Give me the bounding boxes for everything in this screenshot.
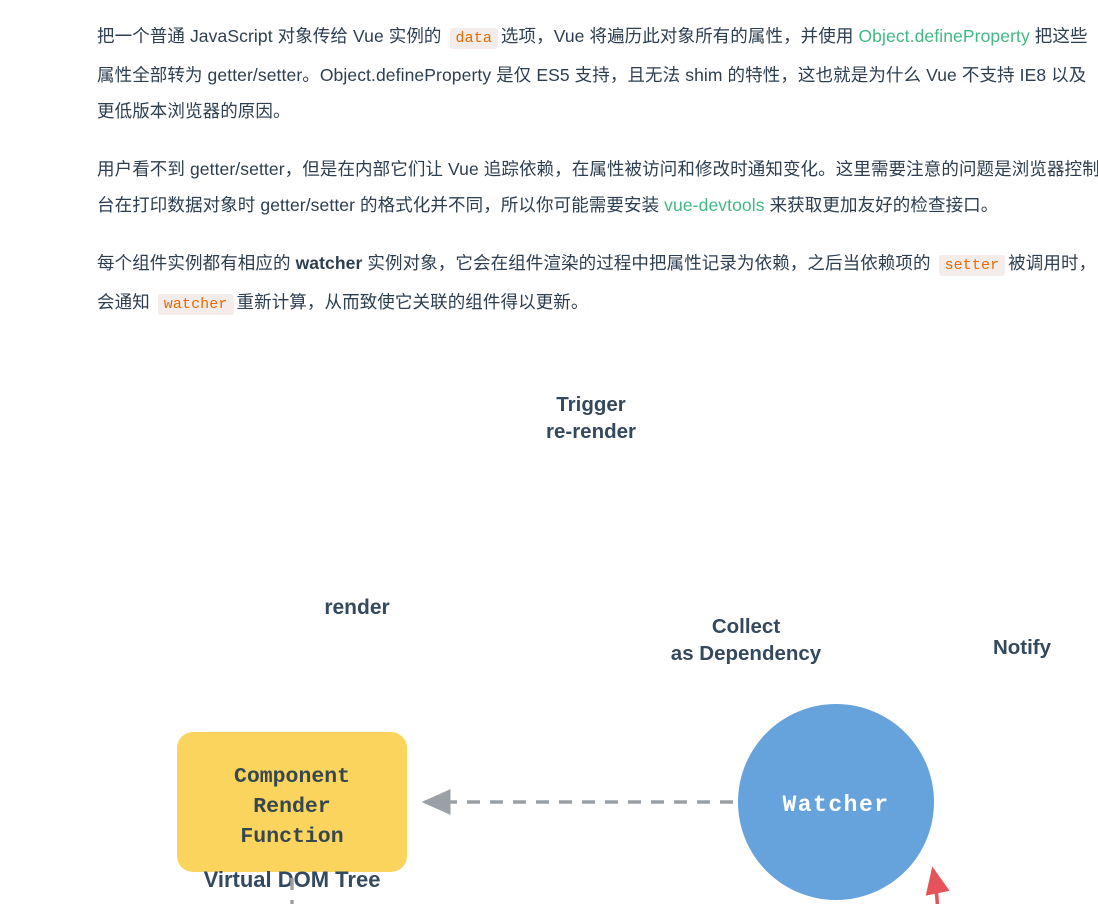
p1-text-2: 选项，Vue 将遍历此对象所有的属性，并使用 xyxy=(501,26,854,46)
page-root: 把一个普通 JavaScript 对象传给 Vue 实例的 data选项，Vue… xyxy=(0,0,1098,904)
node-component-render-function[interactable]: Component Render Function xyxy=(177,732,407,872)
edge-label-trigger-line-2: re-render xyxy=(546,420,636,443)
p2-text-2: 来获取更加友好的检查接口。 xyxy=(770,195,999,215)
link-object-defineproperty[interactable]: Object.defineProperty xyxy=(858,26,1029,46)
paragraph-2: 用户看不到 getter/setter，但是在内部它们让 Vue 追踪依赖，在属… xyxy=(97,151,1098,223)
p1-text-1: 把一个普通 JavaScript 对象传给 Vue 实例的 xyxy=(97,26,442,46)
p3-text-2: 实例对象，它会在组件渲染的过程中把属性记录为依赖，之后当依赖项的 xyxy=(367,253,930,273)
paragraph-3: 每个组件实例都有相应的 watcher 实例对象，它会在组件渲染的过程中把属性记… xyxy=(97,245,1098,323)
keyword-watcher: watcher xyxy=(296,253,363,273)
edge-label-collect-line-2: as Dependency xyxy=(671,642,822,665)
p3-text-4: 重新计算，从而致使它关联的组件得以更新。 xyxy=(237,292,589,312)
paragraph-1: 把一个普通 JavaScript 对象传给 Vue 实例的 data选项，Vue… xyxy=(97,18,1098,129)
code-data: data xyxy=(450,28,498,49)
link-vue-devtools[interactable]: vue-devtools xyxy=(664,195,764,215)
component-render-function-line-1: Component xyxy=(234,765,350,789)
component-render-function-line-2: Render xyxy=(253,795,330,819)
node-watcher[interactable]: Watcher xyxy=(738,704,934,900)
edge-trigger-re-render: Trigger re-render xyxy=(425,393,733,802)
edge-label-collect-line-1: Collect xyxy=(712,615,781,638)
edge-label-notify: Notify xyxy=(993,636,1052,659)
p3-text-1: 每个组件实例都有相应的 xyxy=(97,253,291,273)
node-virtual-dom-tree[interactable]: Virtual DOM Tree xyxy=(196,867,380,904)
edge-label-trigger-line-1: Trigger xyxy=(556,393,626,416)
article-body: 把一个普通 JavaScript 对象传给 Vue 实例的 data选项，Vue… xyxy=(97,18,1098,345)
reactivity-diagram: Component Render Function Watcher Data g… xyxy=(0,330,1098,904)
watcher-label: Watcher xyxy=(782,792,889,818)
code-watcher: watcher xyxy=(158,294,234,315)
component-render-function-line-3: Function xyxy=(240,825,343,849)
edge-label-render: render xyxy=(324,596,389,619)
code-setter: setter xyxy=(939,255,1006,276)
